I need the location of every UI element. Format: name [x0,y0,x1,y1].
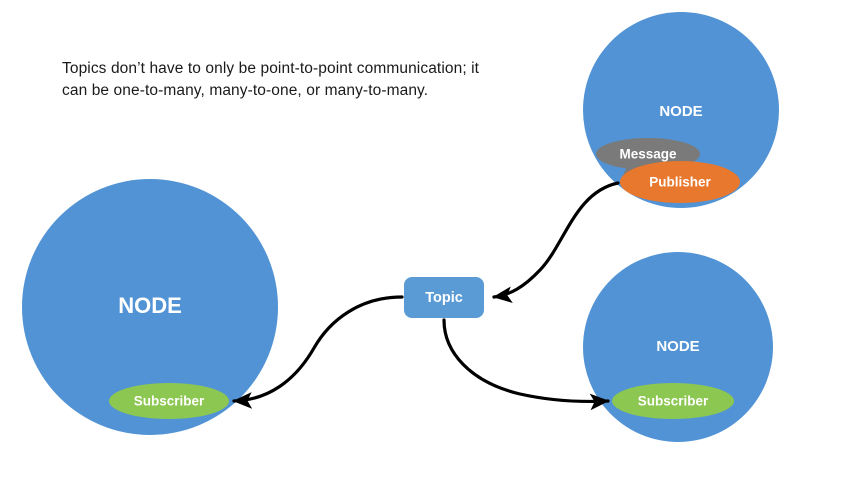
ros-topic-diagram: NODE NODE NODE Message Publisher [0,0,854,480]
publisher-label: Publisher [649,175,711,190]
subscriber-pill-left[interactable]: Subscriber [109,383,229,419]
message-label: Message [619,147,677,162]
subscriber-left-label: Subscriber [134,394,205,409]
slide-canvas: Topics don’t have to only be point-to-po… [0,0,854,480]
subscriber-bottom-right-label: Subscriber [638,394,709,409]
publisher-pill[interactable]: Publisher [620,161,740,203]
node-left-label: NODE [118,293,182,318]
topic-box[interactable]: Topic [404,277,484,318]
subscriber-pill-bottom-right[interactable]: Subscriber [612,383,734,419]
node-top-right-label: NODE [659,103,702,120]
connector-topic-to-subscriber-bottom-right [444,320,608,401]
topic-label: Topic [425,290,463,306]
connector-publisher-to-topic [494,183,618,297]
node-bottom-right-label: NODE [656,338,699,355]
